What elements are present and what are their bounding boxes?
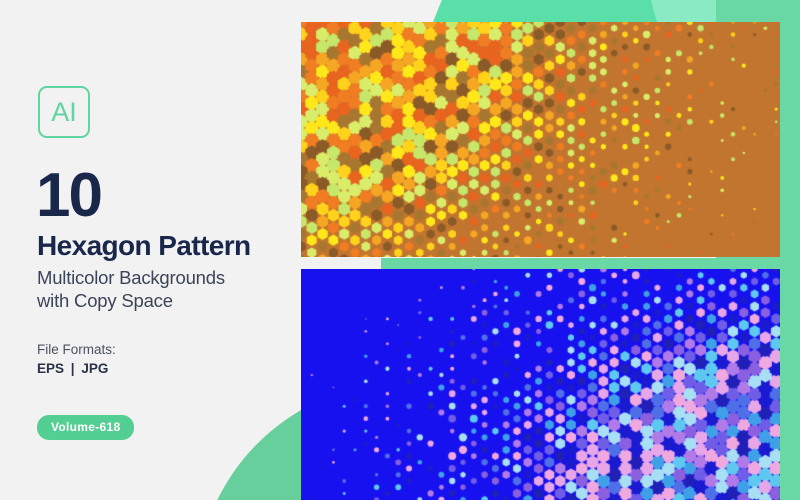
file-format-jpg: JPG xyxy=(81,361,108,376)
orange-hexagon-preview xyxy=(301,22,780,257)
blue-hexagon-preview xyxy=(301,269,780,500)
file-formats-label: File Formats: xyxy=(37,343,116,357)
orange-pattern-canvas xyxy=(301,22,780,257)
decor-green-divider-strip xyxy=(381,258,800,269)
adobe-illustrator-badge: AI xyxy=(38,86,90,138)
page-subtitle-line-1: Multicolor Backgrounds xyxy=(37,266,225,289)
file-format-eps: EPS xyxy=(37,361,64,376)
info-column: AI 10 Hexagon Pattern Multicolor Backgro… xyxy=(0,0,300,500)
file-formats-value: EPS | JPG xyxy=(37,362,108,376)
page-subtitle: Multicolor Backgrounds with Copy Space xyxy=(37,266,225,313)
file-format-separator: | xyxy=(68,361,78,376)
page-title: Hexagon Pattern xyxy=(37,232,251,260)
blue-pattern-canvas xyxy=(301,269,780,500)
preview-canvas: AI 10 Hexagon Pattern Multicolor Backgro… xyxy=(0,0,800,500)
volume-badge: Volume-618 xyxy=(37,415,134,440)
page-subtitle-line-2: with Copy Space xyxy=(37,289,225,312)
adobe-illustrator-badge-label: AI xyxy=(51,99,77,126)
item-count: 10 xyxy=(36,165,101,227)
